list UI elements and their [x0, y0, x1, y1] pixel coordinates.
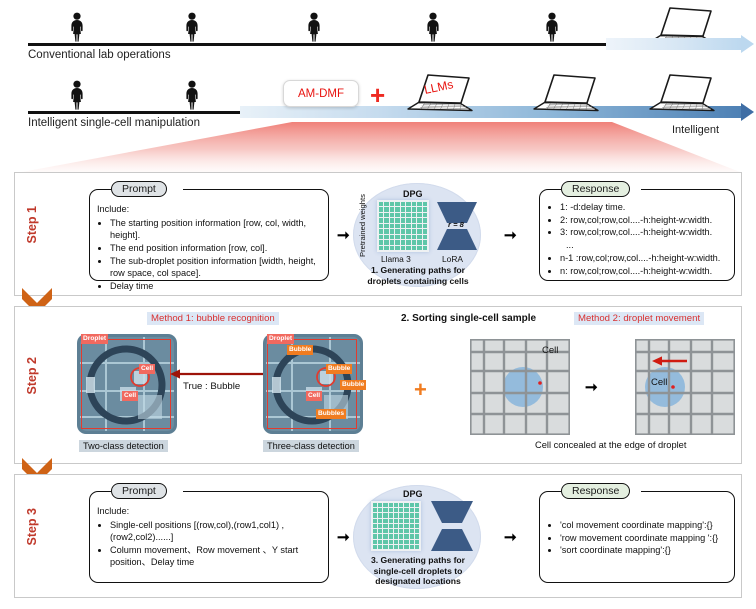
- chip-droplet: Droplet: [267, 334, 294, 344]
- red-funnel-connector: [0, 122, 756, 174]
- chip-cell: Cell: [306, 391, 322, 401]
- method2-caption: Cell concealed at the edge of droplet: [535, 440, 686, 450]
- laptop-icon: [645, 72, 715, 119]
- step3-prompt-tab: Prompt: [111, 483, 167, 499]
- step1-response-body: 1: -d:delay time. 2: row,col;row,col....…: [547, 201, 731, 277]
- list-item: The starting position information [row, …: [110, 217, 323, 241]
- person-icon: [183, 80, 201, 110]
- person-icon: [183, 12, 201, 42]
- step3-response-tab: Response: [561, 483, 630, 499]
- pretrained-weight-grid: [371, 501, 421, 551]
- step3-dpg-caption: 3. Generating paths for single-cell drop…: [359, 555, 477, 587]
- chip-bubbles: Bubbles: [316, 409, 346, 419]
- step3-prompt-body: Include: Single-cell positions [(row,col…: [97, 505, 323, 569]
- lora-label: LoRA: [442, 254, 463, 264]
- pretrained-weight-grid: [377, 200, 429, 252]
- step3-response-body: 'col movement coordinate mapping':{} 'ro…: [547, 519, 731, 557]
- chip-bubble: Bubble: [326, 364, 352, 374]
- person-icon: [424, 12, 442, 42]
- list-item: Delay time: [110, 280, 323, 292]
- list-item: 1: -d:delay time.: [560, 201, 731, 213]
- step1-response-tab: Response: [561, 181, 630, 197]
- step-2-panel: Step 2 Method 1: bubble recognition 2. S…: [14, 306, 742, 464]
- step1-prompt-body: Include: The starting position informati…: [97, 203, 323, 293]
- bubble-compare-arrow-icon: [170, 367, 276, 381]
- llama-label: Llama 3: [381, 254, 411, 264]
- list-item: n: row,col;row,col....-h:height-w:width.: [560, 265, 731, 277]
- chip-bubble: Bubble: [287, 345, 313, 355]
- list-item: 2: row,col;row,col....-h:height-w:width.: [560, 214, 731, 226]
- list-item: The sub-droplet position information [wi…: [110, 255, 323, 279]
- step-3-label: Step 3: [25, 508, 39, 546]
- lora-rank-label: r = 8: [448, 220, 464, 229]
- list-item: Single-cell positions [(row,col),(row1,c…: [110, 519, 323, 543]
- list-item: 'row movement coordinate mapping ':{}: [560, 532, 731, 544]
- laptop-icon: [529, 72, 599, 119]
- droplet-grid-after: [635, 339, 735, 435]
- list-item: 'col movement coordinate mapping':{}: [560, 519, 731, 531]
- plus-icon: +: [414, 379, 427, 401]
- flow-arrow-icon: ➞: [337, 530, 350, 545]
- flow-arrow-icon: ➞: [337, 228, 350, 243]
- list-item: Column movement、Row movement 、Y start po…: [110, 544, 323, 568]
- sorting-section-title: 2. Sorting single-cell sample: [401, 313, 536, 324]
- person-icon: [68, 80, 86, 110]
- step1-dpg-title: DPG: [403, 189, 423, 199]
- list-item: 3: row,col;row,col....-h:height-w:width.: [560, 226, 731, 238]
- true-bubble-label: True : Bubble: [183, 381, 240, 392]
- flow-arrow-icon: ➞: [504, 228, 517, 243]
- person-icon: [68, 12, 86, 42]
- chip-cell: Cell: [122, 391, 138, 401]
- plus-icon: +: [370, 82, 385, 108]
- list-ellipsis: ...: [566, 239, 731, 251]
- pretrained-weights-label: Pretrained weights: [359, 205, 367, 257]
- cell-label-before: Cell: [542, 345, 558, 356]
- list-item: n-1 :row,col;row,col....-h:height-w:widt…: [560, 252, 731, 264]
- chip-cell: Cell: [139, 364, 155, 374]
- timeline-axis-intelligent: [28, 111, 240, 114]
- step-2-label: Step 2: [25, 357, 39, 395]
- am-dmf-badge[interactable]: AM-DMF: [283, 80, 359, 107]
- step3-dpg-title: DPG: [403, 489, 423, 499]
- chip-droplet: Droplet: [81, 334, 108, 344]
- chip-bubble: Bubble: [340, 380, 366, 390]
- step1-dpg-caption: 1. Generating paths for droplets contain…: [359, 265, 477, 286]
- timeline-caption-conventional: Conventional lab operations: [28, 49, 171, 61]
- three-class-caption: Three-class detection: [263, 440, 359, 452]
- detection-bbox: [81, 339, 171, 429]
- lora-adapter-icon: [429, 499, 475, 553]
- timeline-axis-conventional: [28, 43, 606, 46]
- step-1-label: Step 1: [25, 206, 39, 244]
- list-item: 'sort coordinate mapping':{}: [560, 544, 731, 556]
- gradient-arrow-icon: [606, 38, 754, 50]
- flow-arrow-icon: ➞: [585, 380, 598, 395]
- person-icon: [305, 12, 323, 42]
- step3-include-label: Include:: [97, 505, 323, 517]
- step1-prompt-tab: Prompt: [111, 181, 167, 197]
- step1-include-label: Include:: [97, 203, 323, 215]
- step-1-panel: Step 1 Prompt Include: The starting posi…: [14, 172, 742, 296]
- list-item: The end position information [row, col].: [110, 242, 323, 254]
- person-icon: [543, 12, 561, 42]
- cell-label-after: Cell: [651, 377, 667, 388]
- two-class-caption: Two-class detection: [79, 440, 168, 452]
- method-2-label: Method 2: droplet movement: [574, 312, 704, 325]
- flow-arrow-icon: ➞: [504, 530, 517, 545]
- method-1-label: Method 1: bubble recognition: [147, 312, 279, 325]
- step-3-panel: Step 3 Prompt Include: Single-cell posit…: [14, 474, 742, 598]
